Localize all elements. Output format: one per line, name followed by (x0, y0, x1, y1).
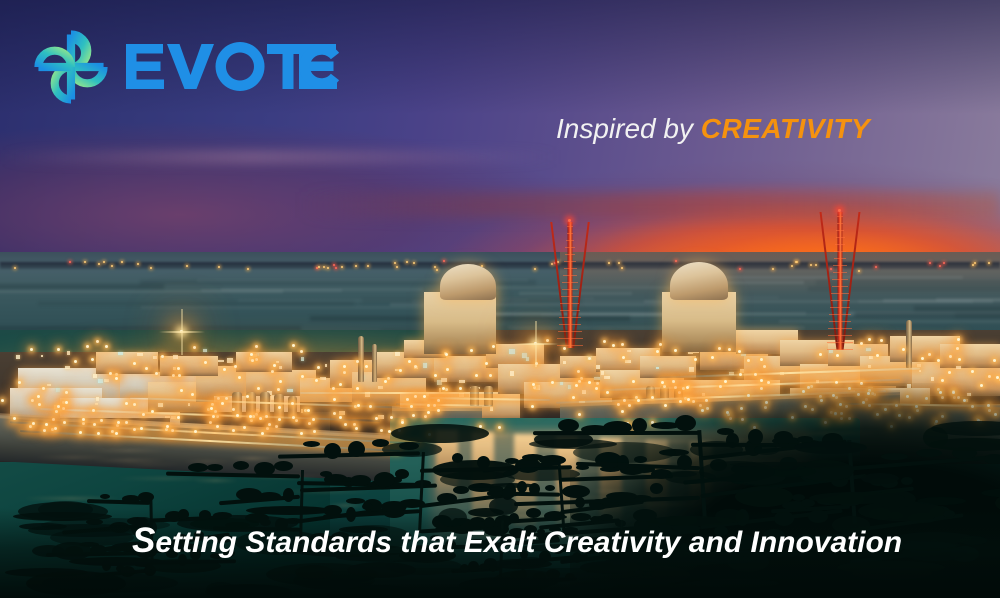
street-lamp (380, 429, 383, 432)
pine-needle-cluster (395, 469, 409, 479)
street-lamp (437, 399, 440, 402)
storage-tank (288, 396, 297, 418)
street-lamp (375, 417, 378, 420)
distant-light (939, 265, 941, 267)
street-lamp (204, 361, 207, 364)
street-lamp (365, 365, 368, 368)
street-lamp (177, 367, 180, 370)
tower-rung (827, 349, 854, 350)
distant-light (394, 262, 396, 264)
building-window (104, 379, 109, 382)
street-lamp (836, 354, 839, 357)
street-lamp (116, 424, 119, 427)
street-lamp (738, 350, 741, 353)
street-lamp (941, 379, 944, 382)
street-lamp (301, 375, 304, 378)
tower-rung (827, 342, 853, 343)
street-lamp (18, 381, 21, 384)
street-lamp (390, 416, 393, 419)
distant-light (103, 261, 105, 263)
distant-light (218, 266, 220, 268)
street-lamp (268, 423, 271, 426)
pine-needle-cluster (537, 456, 557, 461)
street-lamp (988, 375, 991, 378)
street-lamp (261, 432, 264, 435)
street-lamp (993, 359, 996, 362)
tower-rung (828, 328, 852, 329)
street-lamp (55, 410, 58, 413)
street-lamp (238, 376, 241, 379)
street-lamp (277, 388, 280, 391)
building-window (627, 350, 631, 352)
building-window (158, 403, 163, 407)
street-lamp (902, 348, 905, 351)
canopy-clump (488, 483, 535, 488)
building-window (423, 363, 427, 368)
street-lamp (115, 377, 118, 380)
street-lamp (317, 366, 320, 369)
building-window (931, 377, 934, 381)
plant-building (96, 352, 158, 374)
pine-needle-cluster (545, 485, 555, 491)
street-lamp (223, 368, 226, 371)
tagline-bottom: Setting Standards that Exalt Creativity … (132, 521, 902, 561)
street-lamp (603, 340, 606, 343)
street-lamp (353, 423, 356, 426)
street-lamp (255, 358, 258, 361)
distant-light (341, 266, 343, 268)
building-window (301, 357, 304, 361)
reflection-streak (91, 449, 167, 452)
street-lamp (225, 397, 228, 400)
building-window (325, 364, 327, 367)
pine-needle-cluster (632, 418, 647, 433)
street-lamp (442, 387, 445, 390)
street-lamp (414, 395, 417, 398)
street-lamp (249, 415, 252, 418)
street-lamp (949, 355, 952, 358)
distant-light (791, 265, 793, 267)
street-lamp (166, 425, 169, 428)
reactor-dome-left (440, 264, 496, 300)
tower-rung (559, 324, 582, 325)
building-window (41, 355, 43, 357)
building-window (276, 361, 279, 363)
building-window (869, 356, 873, 359)
street-lamp (763, 365, 766, 368)
light-flare-center (534, 342, 537, 345)
building-window (203, 349, 207, 352)
street-lamp (30, 348, 33, 351)
distant-light (739, 268, 741, 270)
street-lamp (79, 431, 82, 434)
tower-rung (559, 317, 581, 318)
distant-light (608, 262, 610, 264)
storage-tank (484, 386, 493, 406)
building-window (866, 348, 871, 351)
distant-light (137, 263, 139, 265)
building-window (173, 355, 178, 359)
street-lamp (412, 414, 415, 417)
tower-rung (564, 261, 576, 262)
pine-needle-cluster (916, 449, 942, 457)
street-lamp (243, 426, 246, 429)
street-lamp (52, 418, 55, 421)
street-lamp (563, 347, 566, 350)
street-lamp (434, 374, 437, 377)
street-lamp (111, 430, 114, 433)
street-lamp (427, 404, 430, 407)
building-window (287, 389, 293, 392)
pine-needle-cluster (675, 415, 696, 431)
light-string (300, 392, 500, 394)
tagline-bottom-lead: S (132, 521, 155, 560)
street-lamp (694, 358, 697, 361)
street-lamp (125, 421, 128, 424)
street-lamp (266, 427, 269, 430)
street-lamp (401, 421, 404, 424)
tower-rung (558, 331, 582, 332)
pine-needle-cluster (399, 499, 425, 508)
building-window (625, 360, 631, 363)
distant-light (815, 264, 817, 266)
building-window (829, 350, 833, 353)
street-lamp (621, 343, 624, 346)
light-flare-left (180, 330, 183, 333)
canopy-clump (730, 462, 830, 467)
street-lamp (369, 405, 372, 408)
canopy-clump (917, 497, 966, 505)
street-lamp (279, 380, 282, 383)
street-lamp (315, 379, 318, 382)
building-window (173, 367, 176, 370)
tower-rung (830, 307, 850, 308)
mudflat-dark-band (0, 284, 164, 289)
street-lamp (312, 418, 315, 421)
pine-needle-cluster (748, 429, 763, 445)
street-lamp (292, 344, 295, 347)
building-window (510, 371, 514, 376)
street-lamp (956, 347, 959, 350)
tower-rung (831, 293, 849, 294)
tower-rung (829, 321, 851, 322)
pine-needle-cluster (320, 471, 332, 477)
street-lamp (819, 353, 822, 356)
street-lamp (446, 368, 449, 371)
street-lamp (115, 373, 118, 376)
tower-beacon (568, 219, 571, 222)
pine-needle-cluster (437, 493, 457, 504)
evotec-logo[interactable] (34, 30, 339, 104)
building-window (279, 366, 282, 369)
distant-light (247, 268, 249, 270)
street-lamp (38, 403, 41, 406)
pine-needle-cluster (254, 462, 275, 476)
distant-light (98, 263, 100, 265)
tower-rung (566, 240, 574, 241)
street-lamp (232, 429, 235, 432)
distant-light (186, 265, 188, 267)
street-lamp (475, 374, 478, 377)
street-lamp (221, 402, 224, 405)
street-lamp (356, 360, 359, 363)
street-lamp (125, 402, 128, 405)
canopy-clump (534, 431, 593, 448)
street-lamp (433, 404, 436, 407)
tower-rung (564, 268, 577, 269)
street-lamp (343, 365, 346, 368)
street-lamp (32, 422, 35, 425)
street-lamp (957, 338, 960, 341)
distant-light (795, 261, 797, 263)
pine-needle-cluster (774, 431, 793, 444)
distant-light (335, 267, 337, 269)
street-lamp (115, 432, 118, 435)
distant-light (810, 264, 812, 266)
street-lamp (142, 413, 145, 416)
tower-rung (833, 272, 848, 273)
street-lamp (31, 399, 34, 402)
building-window (490, 407, 493, 411)
street-lamp (470, 349, 473, 352)
building-window (441, 378, 447, 382)
street-lamp (728, 348, 731, 351)
building-window (56, 388, 60, 392)
distant-light (434, 266, 436, 268)
building-window (522, 353, 527, 358)
street-lamp (427, 411, 430, 414)
tagline-top-accent: CREATIVITY (701, 113, 870, 144)
street-lamp (937, 359, 940, 362)
tower-rung (837, 223, 844, 224)
street-lamp (62, 407, 65, 410)
storage-tank (470, 386, 479, 406)
street-lamp (333, 398, 336, 401)
distant-light (121, 261, 123, 263)
building-window (378, 386, 383, 389)
street-lamp (217, 397, 220, 400)
street-lamp (551, 381, 554, 384)
street-lamp (13, 417, 16, 420)
canopy-clump (923, 427, 948, 448)
street-lamp (250, 419, 253, 422)
street-lamp (251, 359, 254, 362)
tagline-top-plain: Inspired by (556, 113, 693, 144)
street-lamp (533, 386, 536, 389)
tower-rung (832, 279, 848, 280)
pine-needle-cluster (901, 477, 913, 485)
street-lamp (996, 376, 999, 379)
street-lamp (133, 428, 136, 431)
street-lamp (577, 370, 580, 373)
distant-light (974, 262, 976, 264)
street-lamp (355, 427, 358, 430)
street-lamp (445, 353, 448, 356)
canopy-clump (690, 441, 743, 458)
street-lamp (214, 410, 217, 413)
street-lamp (265, 415, 268, 418)
street-lamp (410, 405, 413, 408)
street-lamp (133, 403, 136, 406)
street-lamp (86, 345, 89, 348)
street-lamp (659, 343, 662, 346)
distant-light (14, 267, 16, 269)
tower-rung (562, 282, 578, 283)
street-lamp (485, 362, 488, 365)
tower-rung (560, 303, 579, 304)
street-lamp (876, 354, 879, 357)
tower-rung (565, 254, 576, 255)
lattice-tower-right (826, 212, 854, 350)
street-lamp (216, 425, 219, 428)
tower-rung (831, 300, 850, 301)
tower-rung (833, 265, 846, 266)
building-window (604, 376, 610, 379)
building-window (171, 416, 176, 419)
street-lamp (194, 430, 197, 433)
street-lamp (209, 421, 212, 424)
building-window (919, 370, 921, 372)
street-lamp (711, 356, 714, 359)
reactor-building-right (662, 292, 736, 352)
reflection-streak (183, 460, 229, 463)
tower-rung (565, 247, 574, 248)
canopy-clump (503, 467, 580, 481)
street-lamp (339, 383, 342, 386)
building-window (509, 349, 515, 354)
pine-needle-cluster (274, 461, 293, 471)
distant-light (551, 263, 553, 265)
distant-light (436, 269, 438, 271)
street-lamp (165, 428, 168, 431)
street-lamp (92, 409, 95, 412)
street-lamp (273, 364, 276, 367)
distant-light (333, 264, 335, 266)
building-window (227, 358, 233, 363)
street-lamp (308, 422, 311, 425)
street-lamp (211, 403, 214, 406)
reflection-streak (231, 457, 274, 460)
street-lamp (357, 404, 360, 407)
building-window (218, 360, 224, 362)
street-lamp (210, 407, 213, 410)
pine-needle-cluster (283, 488, 294, 502)
building-window (594, 377, 600, 380)
building-window (339, 411, 345, 415)
street-lamp (622, 356, 625, 359)
distant-light (111, 265, 113, 267)
street-lamp (718, 347, 721, 350)
distant-light (84, 261, 86, 263)
street-lamp (868, 338, 871, 341)
building-window (459, 380, 465, 383)
street-lamp (236, 414, 239, 417)
street-lamp (232, 408, 235, 411)
building-window (93, 374, 97, 378)
building-window (16, 355, 20, 359)
street-lamp (300, 350, 303, 353)
canopy-clump (861, 473, 899, 484)
street-lamp (161, 355, 164, 358)
street-lamp (82, 418, 85, 421)
building-window (689, 367, 694, 372)
tower-rung (836, 237, 845, 238)
street-lamp (246, 395, 249, 398)
distant-light (943, 262, 945, 264)
building-window (188, 403, 190, 406)
tower-rung (567, 233, 574, 234)
building-window (601, 371, 604, 375)
street-lamp (74, 360, 77, 363)
pine-needle-cluster (207, 464, 223, 471)
street-lamp (339, 416, 342, 419)
building-window (95, 403, 98, 405)
pine-needle-cluster (138, 492, 154, 502)
tower-rung (828, 335, 853, 336)
distant-light (534, 268, 536, 270)
pine-needle-cluster (350, 475, 371, 486)
street-lamp (255, 413, 258, 416)
street-lamp (54, 427, 57, 430)
building-window (596, 365, 600, 369)
street-lamp (250, 353, 253, 356)
street-lamp (437, 409, 440, 412)
street-lamp (532, 383, 535, 386)
distant-light (618, 262, 620, 264)
pine-needle-cluster (374, 472, 395, 487)
canopy-clump (794, 441, 867, 454)
pine-needle-cluster (603, 421, 632, 434)
tower-mast (838, 212, 843, 350)
chimney (358, 336, 364, 382)
street-lamp (57, 405, 60, 408)
street-lamp (180, 389, 183, 392)
reflection-streak (193, 479, 238, 482)
tagline-bottom-rest: etting Standards that Exalt Creativity a… (155, 526, 902, 559)
street-lamp (65, 401, 68, 404)
pine-needle-cluster (881, 453, 908, 460)
mudflat-band (221, 288, 423, 291)
street-lamp (133, 362, 136, 365)
street-lamp (140, 427, 143, 430)
street-lamp (42, 387, 45, 390)
street-lamp (212, 415, 215, 418)
pine-needle-cluster (100, 494, 110, 499)
street-lamp (145, 367, 148, 370)
street-lamp (423, 395, 426, 398)
tower-rung (567, 226, 573, 227)
reflection-streak (92, 459, 166, 462)
street-lamp (100, 419, 103, 422)
tower-rung (834, 251, 845, 252)
street-lamp (424, 415, 427, 418)
tower-rung (835, 244, 845, 245)
reactor-building-left (424, 292, 496, 354)
building-window (118, 352, 123, 355)
street-lamp (880, 339, 883, 342)
street-lamp (82, 422, 85, 425)
pine-needle-cluster (650, 483, 663, 494)
street-lamp (384, 380, 387, 383)
street-lamp (300, 432, 303, 435)
street-lamp (96, 340, 99, 343)
street-lamp (332, 387, 335, 390)
street-lamp (291, 402, 294, 405)
building-window (563, 361, 566, 364)
pine-needle-cluster (324, 443, 341, 459)
pine-needle-cluster (717, 428, 734, 435)
horizon-cloud-bar (300, 192, 1000, 218)
